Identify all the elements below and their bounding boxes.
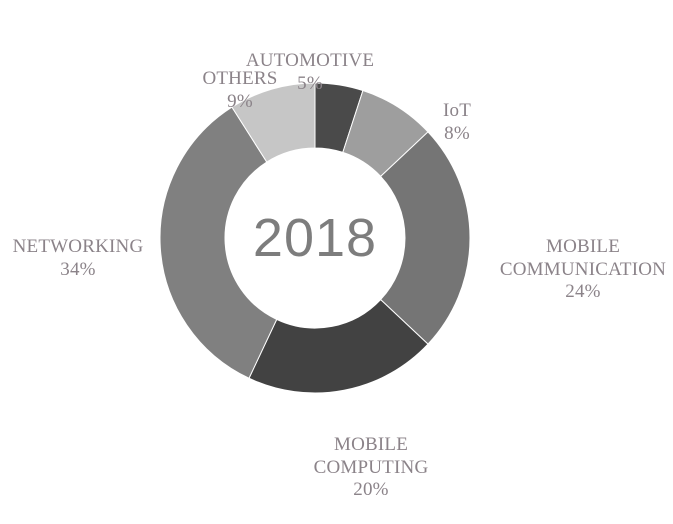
slice-label-networking-name: NETWORKING — [13, 236, 144, 257]
slice-label-mobile-communication-name: MOBILE COMMUNICATION — [500, 236, 666, 279]
slice-label-others-percent: 9% — [165, 91, 315, 113]
donut-chart: 2018 AUTOMOTIVE 5% IoT 8% MOBILE COMMUNI… — [0, 0, 673, 512]
slice-label-others: OTHERS 9% — [165, 46, 315, 136]
slice-label-networking-percent: 34% — [0, 259, 161, 281]
slice-label-mobile-computing-name: MOBILE COMPUTING — [314, 434, 429, 477]
slice-label-iot-percent: 8% — [402, 123, 512, 145]
slice-label-mobile-computing-percent: 20% — [281, 479, 461, 501]
slice-label-networking: NETWORKING 34% — [0, 214, 161, 304]
slice-label-mobile-communication: MOBILE COMMUNICATION 24% — [493, 214, 673, 326]
slice-label-mobile-communication-percent: 24% — [493, 281, 673, 303]
slice-label-iot-name: IoT — [443, 100, 471, 121]
slice-label-mobile-computing: MOBILE COMPUTING 20% — [281, 412, 461, 524]
slice-label-iot: IoT 8% — [402, 78, 512, 168]
slice-label-others-name: OTHERS — [202, 68, 277, 89]
